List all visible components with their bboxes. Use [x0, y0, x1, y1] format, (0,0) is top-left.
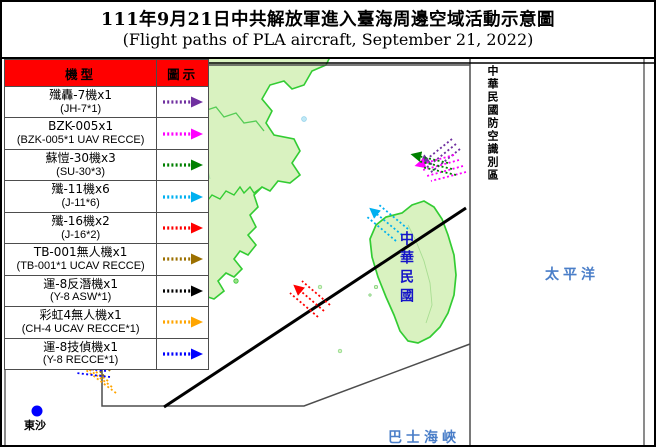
legend-aircraft-name: BZK-005x1(BZK-005*1 UAV RECCE) [5, 118, 157, 149]
ocean-islet [338, 349, 342, 353]
legend-name-english: (Y-8 RECCE*1) [6, 354, 155, 367]
legend-aircraft-name: TB-001無人機x1(TB-001*1 UCAV RECCE) [5, 244, 157, 275]
title-chinese: 111年9月21日中共解放軍進入臺海周邊空域活動示意圖 [101, 10, 555, 30]
legend-name-english: (TB-001*1 UCAV RECCE) [6, 260, 155, 273]
legend-header-type: 機型 [5, 60, 157, 87]
legend-row: TB-001無人機x1(TB-001*1 UCAV RECCE) [5, 244, 209, 275]
legend-symbol-cell [157, 307, 209, 338]
legend-body: 殲轟-7機x1(JH-7*1)BZK-005x1(BZK-005*1 UAV R… [5, 87, 209, 370]
legend-symbol-cell [157, 244, 209, 275]
dotted-arrow-icon [161, 315, 205, 329]
dotted-arrow-icon [161, 158, 205, 172]
legend-row: 殲-16機x2(J-16*2) [5, 212, 209, 243]
dotted-arrow-icon [161, 190, 205, 204]
legend-aircraft-name: 蘇愷-30機x3(SU-30*3) [5, 149, 157, 180]
ocean-islet [318, 285, 322, 289]
legend-header-symbol: 圖示 [157, 60, 209, 87]
legend-aircraft-name: 運-8技偵機x1(Y-8 RECCE*1) [5, 338, 157, 369]
legend-symbol-cell [157, 275, 209, 306]
legend-name-chinese: 運-8反潛機x1 [6, 278, 155, 292]
legend-name-chinese: BZK-005x1 [6, 120, 155, 134]
legend-name-chinese: 彩虹4無人機x1 [6, 309, 155, 323]
legend-symbol-cell [157, 181, 209, 212]
dotted-arrow-icon [161, 95, 205, 109]
legend-row: 運-8反潛機x1(Y-8 ASW*1) [5, 275, 209, 306]
dotted-arrow-icon [161, 127, 205, 141]
legend-name-chinese: 殲-11機x6 [6, 183, 155, 197]
legend-name-chinese: TB-001無人機x1 [6, 246, 155, 260]
legend-aircraft-name: 殲轟-7機x1(JH-7*1) [5, 87, 157, 118]
legend-name-english: (J-16*2) [6, 229, 155, 242]
legend-name-english: (J-11*6) [6, 197, 155, 210]
legend-symbol-cell [157, 149, 209, 180]
bashi-channel-label: 巴士海峽 [388, 427, 460, 445]
legend-row: 彩虹4無人機x1(CH-4 UCAV RECCE*1) [5, 307, 209, 338]
legend-symbol-cell [157, 118, 209, 149]
penghu-islet [369, 294, 371, 296]
legend-row: 殲轟-7機x1(JH-7*1) [5, 87, 209, 118]
legend-row: 蘇愷-30機x3(SU-30*3) [5, 149, 209, 180]
legend-row: 殲-11機x6(J-11*6) [5, 181, 209, 212]
legend-name-english: (Y-8 ASW*1) [6, 291, 155, 304]
legend-row: 運-8技偵機x1(Y-8 RECCE*1) [5, 338, 209, 369]
legend-name-english: (CH-4 UCAV RECCE*1) [6, 323, 155, 336]
legend-name-chinese: 運-8技偵機x1 [6, 341, 155, 355]
dotted-arrow-icon [161, 252, 205, 266]
legend-name-chinese: 殲轟-7機x1 [6, 89, 155, 103]
penghu-islet [374, 285, 377, 288]
roc-label: 中華民國 [396, 231, 416, 307]
legend-table: 機型 圖示 殲轟-7機x1(JH-7*1)BZK-005x1(BZK-005*1… [4, 59, 209, 370]
dotted-arrow-icon [161, 221, 205, 235]
title-english: (Flight paths of PLA aircraft, September… [123, 30, 534, 49]
legend-name-chinese: 殲-16機x2 [6, 215, 155, 229]
legend-row: BZK-005x1(BZK-005*1 UAV RECCE) [5, 118, 209, 149]
legend-symbol-cell [157, 87, 209, 118]
legend-name-chinese: 蘇愷-30機x3 [6, 152, 155, 166]
flight-path-infographic: 111年9月21日中共解放軍進入臺海周邊空域活動示意圖 (Flight path… [0, 0, 656, 447]
dotted-arrow-icon [161, 284, 205, 298]
coastal-islet [234, 279, 238, 283]
adiz-label: 中華民國防空識別區 [487, 65, 498, 182]
dongsha-label: 東沙 [24, 417, 46, 433]
pacific-label: 太平洋 [545, 264, 599, 284]
ocean-islet [302, 117, 307, 122]
legend-name-english: (JH-7*1) [6, 103, 155, 116]
page-title: 111年9月21日中共解放軍進入臺海周邊空域活動示意圖 (Flight path… [2, 2, 654, 59]
dongsha-marker-dot [32, 406, 43, 417]
legend-aircraft-name: 殲-16機x2(J-16*2) [5, 212, 157, 243]
dotted-arrow-icon [161, 347, 205, 361]
legend-aircraft-name: 殲-11機x6(J-11*6) [5, 181, 157, 212]
legend-header-row: 機型 圖示 [5, 60, 209, 87]
legend-name-english: (SU-30*3) [6, 166, 155, 179]
aircraft-legend-table: 機型 圖示 殲轟-7機x1(JH-7*1)BZK-005x1(BZK-005*1… [4, 59, 209, 370]
legend-aircraft-name: 彩虹4無人機x1(CH-4 UCAV RECCE*1) [5, 307, 157, 338]
legend-symbol-cell [157, 338, 209, 369]
legend-symbol-cell [157, 212, 209, 243]
legend-aircraft-name: 運-8反潛機x1(Y-8 ASW*1) [5, 275, 157, 306]
legend-name-english: (BZK-005*1 UAV RECCE) [6, 134, 155, 147]
